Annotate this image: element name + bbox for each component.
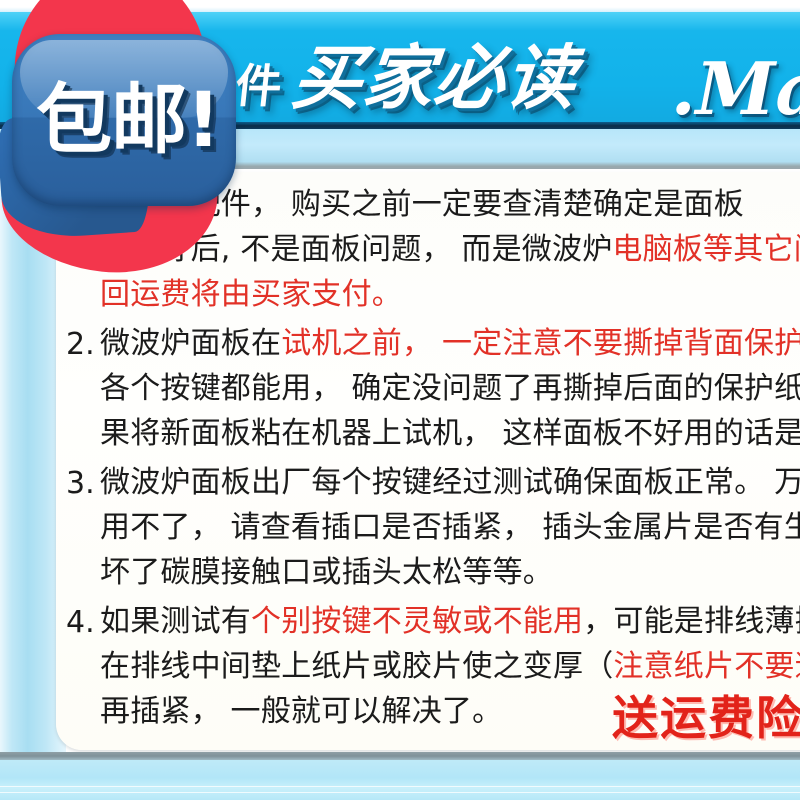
notice-line: 各个按键都能用， 确定没问题了再撕掉后面的保护纸， bbox=[100, 366, 800, 411]
shipping-insurance-slogan: 送运费险 bbox=[612, 692, 800, 744]
notice-line: 用不了， 请查看插口是否插紧， 插头金属片是否有生锈 bbox=[100, 505, 800, 550]
line-segment-highlight: 回运费将由买家支付。 bbox=[100, 277, 402, 312]
line-segment: 微波炉面板出厂每个按键经过测试确保面板正常。 万一 bbox=[100, 465, 800, 500]
notice-line: 微波炉面板出厂每个按键经过测试确保面板正常。 万一 bbox=[100, 460, 800, 505]
notice-line: 微波炉面板在试机之前， 一定注意不要撕掉背面保护纸 bbox=[100, 321, 800, 366]
list-item-number: 4. bbox=[66, 599, 100, 646]
free-shipping-badge: 包邮! bbox=[0, 0, 274, 266]
footer-hairline bbox=[0, 792, 800, 793]
line-segment-highlight: 电脑板等其它问题 bbox=[612, 232, 800, 267]
header-title-main: 买家必读 bbox=[278, 37, 581, 119]
line-segment: ，可能是排线薄插 bbox=[583, 604, 800, 639]
list-item: 3. 微波炉面板出厂每个按键经过测试确保面板正常。 万一 用不了， 请查看插口是… bbox=[66, 460, 800, 595]
list-item-lines: 微波炉面板出厂每个按键经过测试确保面板正常。 万一 用不了， 请查看插口是否插紧… bbox=[100, 460, 800, 595]
line-segment: 如果测试有 bbox=[100, 604, 251, 639]
line-segment-highlight: 注意纸片不要遮 bbox=[613, 649, 800, 684]
list-item-lines: 微波炉面板在试机之前， 一定注意不要撕掉背面保护纸 各个按键都能用， 确定没问题… bbox=[100, 321, 800, 456]
list-item-number: 3. bbox=[66, 460, 100, 507]
line-segment: 在排线中间垫上纸片或胶片使之变厚（ bbox=[100, 649, 613, 684]
badge-label: 包邮! bbox=[12, 34, 240, 206]
line-segment: 微波炉面板在 bbox=[100, 326, 281, 361]
list-item-number: 2. bbox=[66, 321, 100, 368]
line-segment: 坏了碳膜接触口或插头太松等等。 bbox=[100, 555, 553, 590]
line-segment-highlight: 试机之前， 一定注意不要撕掉背面保护纸 bbox=[281, 326, 800, 361]
footer-hairline bbox=[0, 786, 800, 787]
notice-line: 果将新面板粘在机器上试机， 这样面板不好用的话是不能 bbox=[100, 411, 800, 456]
notice-line: 在排线中间垫上纸片或胶片使之变厚（注意纸片不要遮 bbox=[100, 644, 800, 689]
page-root: 件买家必读 .Ma 1. 为维修配件， 购买之前一定要查清楚确定是面板 安装好后… bbox=[0, 0, 800, 800]
footer-band bbox=[0, 760, 800, 800]
line-segment: 用不了， 请查看插口是否插紧， 插头金属片是否有生锈 bbox=[100, 510, 800, 545]
notice-line: 如果测试有个别按键不灵敏或不能用，可能是排线薄插 bbox=[100, 599, 800, 644]
line-segment-highlight: 个别按键不灵敏或不能用 bbox=[251, 604, 583, 639]
line-segment: 再插紧， 一般就可以解决了。 bbox=[100, 694, 502, 729]
header-title: 件买家必读 bbox=[232, 42, 580, 122]
notice-line: 坏了碳膜接触口或插头太松等等。 bbox=[100, 550, 800, 595]
list-item: 2. 微波炉面板在试机之前， 一定注意不要撕掉背面保护纸 各个按键都能用， 确定… bbox=[66, 321, 800, 456]
header-script-text: .Ma bbox=[671, 46, 800, 129]
line-segment: 果将新面板粘在机器上试机， 这样面板不好用的话是不能 bbox=[100, 416, 800, 451]
line-segment: 各个按键都能用， 确定没问题了再撕掉后面的保护纸， bbox=[100, 371, 800, 406]
notice-line: 回运费将由买家支付。 bbox=[100, 272, 800, 317]
